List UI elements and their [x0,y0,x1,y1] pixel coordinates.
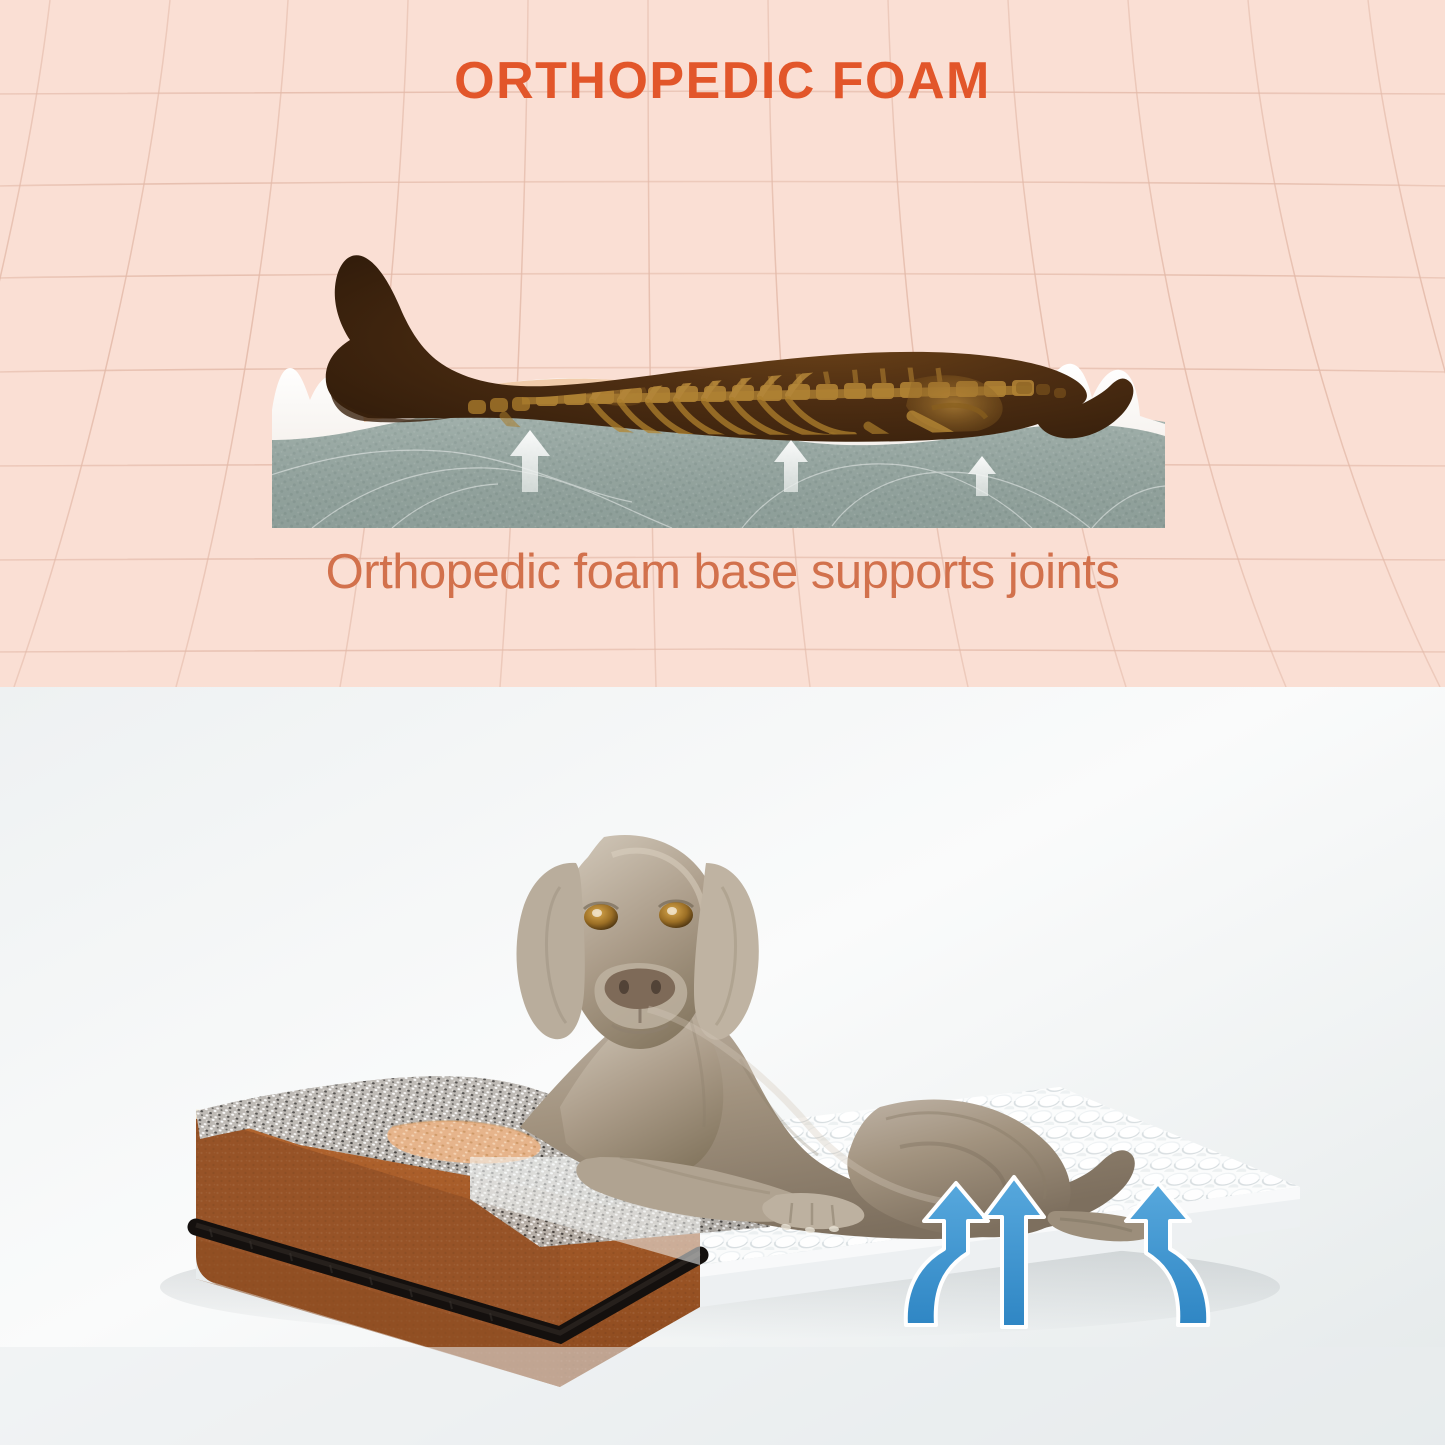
product-infographic: ORTHOPEDIC FOAM [0,0,1445,1445]
dog-eye-left [584,903,618,930]
dog-xray-foam-illustration [272,240,1165,528]
dog-eye-right [659,901,693,928]
top-panel-caption: Orthopedic foam base supports joints [0,548,1445,597]
dog-bed-product-photo [0,687,1445,1445]
bottom-panel-egg-crate-foam: Egg crate orthopedic foam help cushion p… [0,687,1445,1445]
top-panel-orthopedic-foam: ORTHOPEDIC FOAM [0,0,1445,687]
page-title: ORTHOPEDIC FOAM [0,55,1445,107]
